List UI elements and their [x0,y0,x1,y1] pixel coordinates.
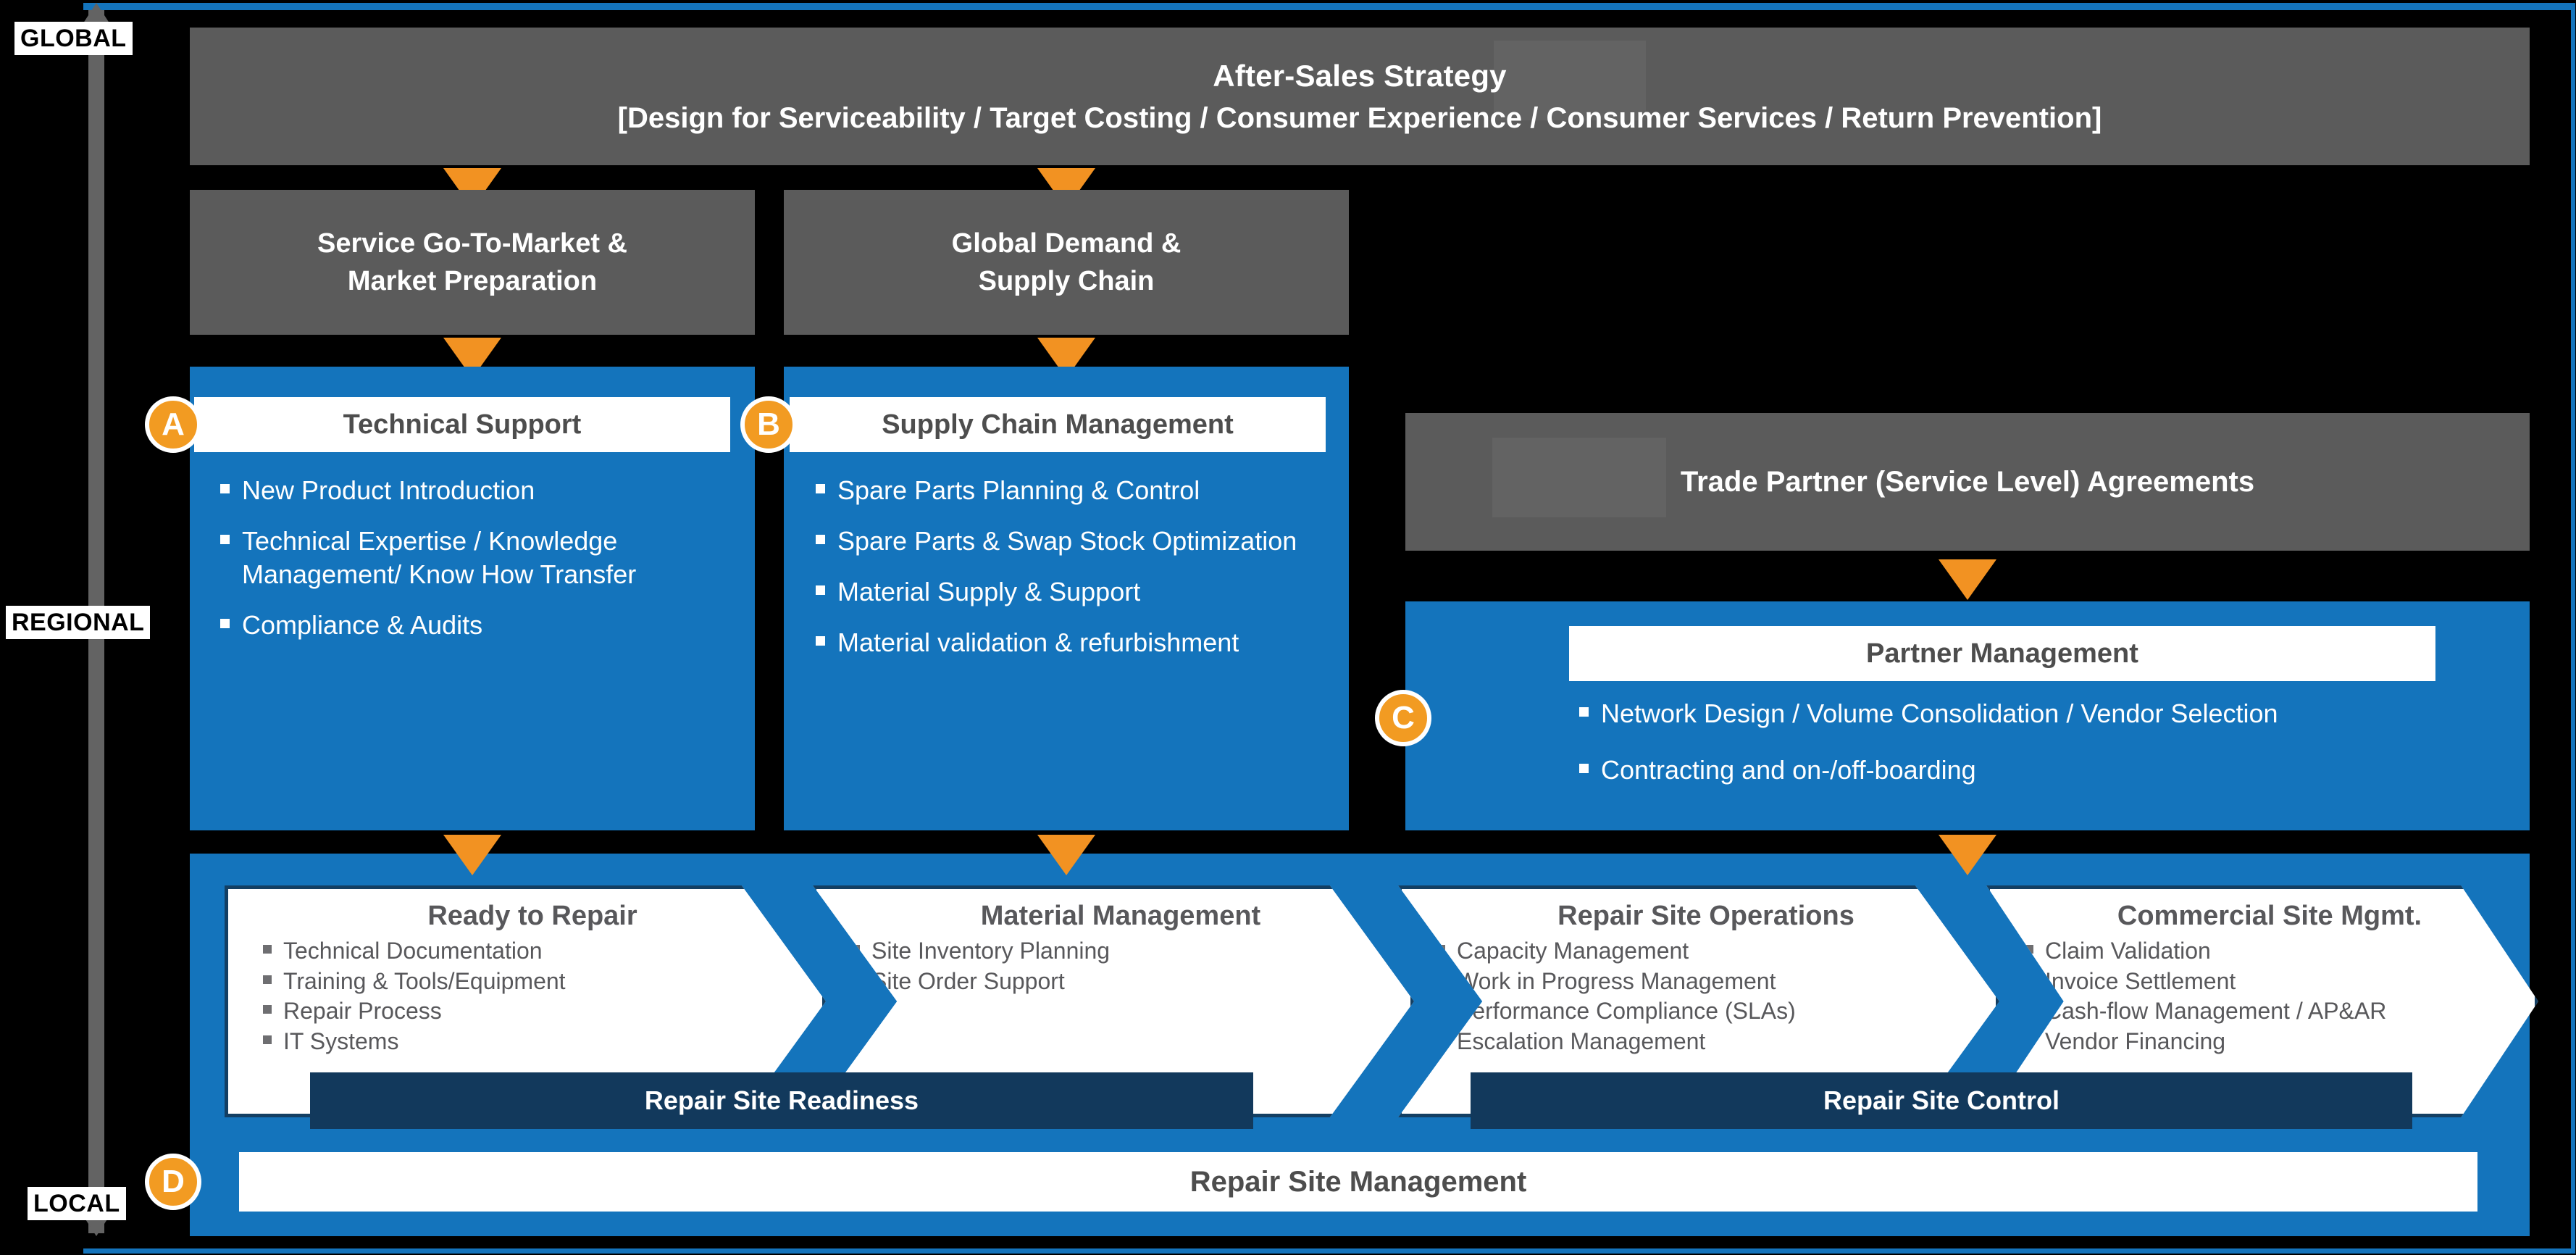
top-border-line [83,3,2573,10]
list-item: Capacity Management [1435,936,1977,967]
down-arrow-icon-5 [1939,559,1996,600]
list-item: Material validation & refurbishment [813,626,1334,659]
supply-chain-management-list: Spare Parts Planning & Control Spare Par… [813,474,1334,677]
list-item: Compliance & Audits [217,609,739,642]
strategy-title: After-Sales Strategy [1213,59,1506,93]
list-item: Vendor Financing [2023,1027,2516,1057]
bottom-border-line [83,1248,2573,1254]
ribbon-repair-site-readiness: Repair Site Readiness [310,1072,1253,1129]
chevron-title: Repair Site Operations [1435,901,1977,932]
ribbon-repair-site-control: Repair Site Control [1471,1072,2412,1129]
diagram-canvas: GLOBAL REGIONAL LOCAL After-Sales Strate… [0,0,2576,1255]
list-item: Invoice Settlement [2023,967,2516,997]
list-item: Material Supply & Support [813,575,1334,609]
chevron-title: Ready to Repair [262,901,803,932]
list-item: IT Systems [262,1027,803,1057]
chevron-list: Capacity Management Work in Progress Man… [1435,936,1977,1056]
list-item: Technical Expertise / Knowledge Manageme… [217,525,739,591]
list-item: Technical Documentation [262,936,803,967]
right-border-line [2571,3,2575,1254]
badge-c: C [1375,690,1431,746]
list-item: New Product Introduction [217,474,739,507]
list-item: Site Inventory Planning [850,936,1392,967]
axis-label-regional: REGIONAL [6,606,150,639]
partner-management-title: Partner Management [1569,626,2435,681]
down-arrow-icon-7 [1037,835,1095,875]
list-item: Spare Parts & Swap Stock Optimization [813,525,1334,558]
axis-label-global: GLOBAL [14,22,133,55]
list-item: Escalation Management [1435,1027,1977,1057]
chevron-title: Commercial Site Mgmt. [2023,901,2516,932]
down-arrow-icon-8 [1939,835,1996,875]
badge-d: D [145,1154,201,1210]
service-go-to-market-label: Service Go-To-Market & Market Preparatio… [317,225,627,301]
list-item: Repair Process [262,996,803,1027]
service-go-to-market-box: Service Go-To-Market & Market Preparatio… [190,190,755,335]
strategy-subtitle: [Design for Serviceability / Target Cost… [618,102,2102,135]
badge-b: B [740,396,797,453]
list-item: Cash-flow Management / AP&AR [2023,996,2516,1027]
trade-partner-ghost-rect [1492,438,1666,517]
list-item: Spare Parts Planning & Control [813,474,1334,507]
chevron-list: Technical Documentation Training & Tools… [262,936,803,1056]
badge-a: A [145,396,201,453]
supply-chain-management-title: Supply Chain Management [790,397,1326,452]
list-item: Performance Compliance (SLAs) [1435,996,1977,1027]
list-item: Training & Tools/Equipment [262,967,803,997]
trade-partner-title: Trade Partner (Service Level) Agreements [1681,466,2254,499]
list-item: Site Order Support [850,967,1392,997]
axis-label-local: LOCAL [28,1187,126,1220]
list-item: Contracting and on-/off-boarding [1576,754,2518,787]
chevron-list: Claim Validation Invoice Settlement Cash… [2023,936,2516,1056]
partner-management-list: Network Design / Volume Consolidation / … [1576,697,2518,810]
list-item: Claim Validation [2023,936,2516,967]
global-demand-supply-chain-box: Global Demand & Supply Chain [784,190,1349,335]
down-arrow-icon-6 [443,835,501,875]
technical-support-list: New Product Introduction Technical Exper… [217,474,739,659]
technical-support-title: Technical Support [194,397,730,452]
after-sales-strategy-box: After-Sales Strategy [Design for Service… [190,28,2530,165]
chevron-title: Material Management [850,901,1392,932]
global-demand-supply-chain-label: Global Demand & Supply Chain [952,225,1182,301]
list-item: Work in Progress Management [1435,967,1977,997]
repair-site-management-title: Repair Site Management [239,1152,2477,1212]
trade-partner-agreements-box: Trade Partner (Service Level) Agreements [1405,413,2530,551]
chevron-list: Site Inventory Planning Site Order Suppo… [850,936,1392,996]
list-item: Network Design / Volume Consolidation / … [1576,697,2518,730]
